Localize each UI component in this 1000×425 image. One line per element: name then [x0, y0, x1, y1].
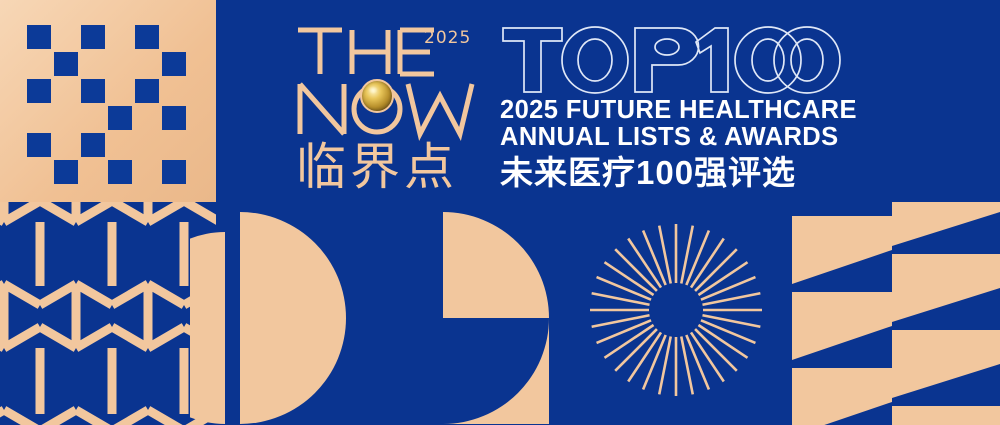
sunburst-pattern	[588, 222, 764, 398]
checker-cell	[27, 25, 51, 49]
circle-group-svg	[190, 202, 590, 425]
letter-N	[300, 84, 344, 134]
notched-disc	[443, 212, 549, 424]
diagonal-stripes-pattern	[784, 202, 1000, 425]
checker-cell	[162, 106, 186, 130]
subtitle-cn-line: 未来医疗100强评选	[500, 153, 900, 193]
gold-orb	[360, 79, 394, 113]
subtitle-en-line2: ANNUAL LISTS & AWARDS	[500, 125, 900, 150]
hex-vertical-struts	[4, 202, 184, 414]
checker-cell	[162, 52, 186, 76]
logo-chinese-name: 临界点	[296, 138, 458, 196]
semicircle-left	[190, 232, 225, 424]
hexagon-lattice-pattern	[0, 202, 216, 425]
circle-group-pattern	[190, 202, 590, 425]
top100-wordmark	[500, 22, 900, 96]
checker-cell	[135, 25, 159, 49]
checker-cell	[108, 106, 132, 130]
top100-svg	[500, 22, 842, 96]
checker-cell	[81, 79, 105, 103]
checker-cell	[81, 133, 105, 157]
sunburst-svg	[588, 222, 764, 398]
checkerboard-pattern	[0, 0, 216, 202]
checker-cell	[54, 160, 78, 184]
logo-year: 2025	[424, 28, 471, 48]
diagonal-stripes-svg	[784, 202, 1000, 425]
hexagon-lattice-svg	[0, 202, 216, 425]
checker-cell	[135, 79, 159, 103]
top100-letter-T	[503, 28, 562, 92]
subtitle-en-line1: 2025 FUTURE HEALTHCARE	[500, 98, 900, 123]
letter-H	[352, 30, 388, 74]
checker-cell	[27, 133, 51, 157]
checker-cell	[81, 25, 105, 49]
checker-cell	[162, 160, 186, 184]
poster-canvas: 2025 临界点	[0, 0, 1000, 425]
checker-cell	[27, 79, 51, 103]
stripes-column-right	[892, 202, 1000, 425]
checker-cell	[108, 160, 132, 184]
stripes-column-left	[792, 216, 892, 425]
top100-digit-1	[696, 28, 728, 92]
semicircle-middle	[240, 212, 346, 424]
headline-block: 2025 FUTURE HEALTHCARE ANNUAL LISTS & AW…	[500, 22, 900, 193]
logo-the-now: 2025 临界点	[296, 22, 488, 194]
top100-letter-P	[635, 28, 699, 92]
letter-W	[408, 84, 472, 134]
checker-cell	[54, 52, 78, 76]
letter-T	[298, 30, 342, 74]
